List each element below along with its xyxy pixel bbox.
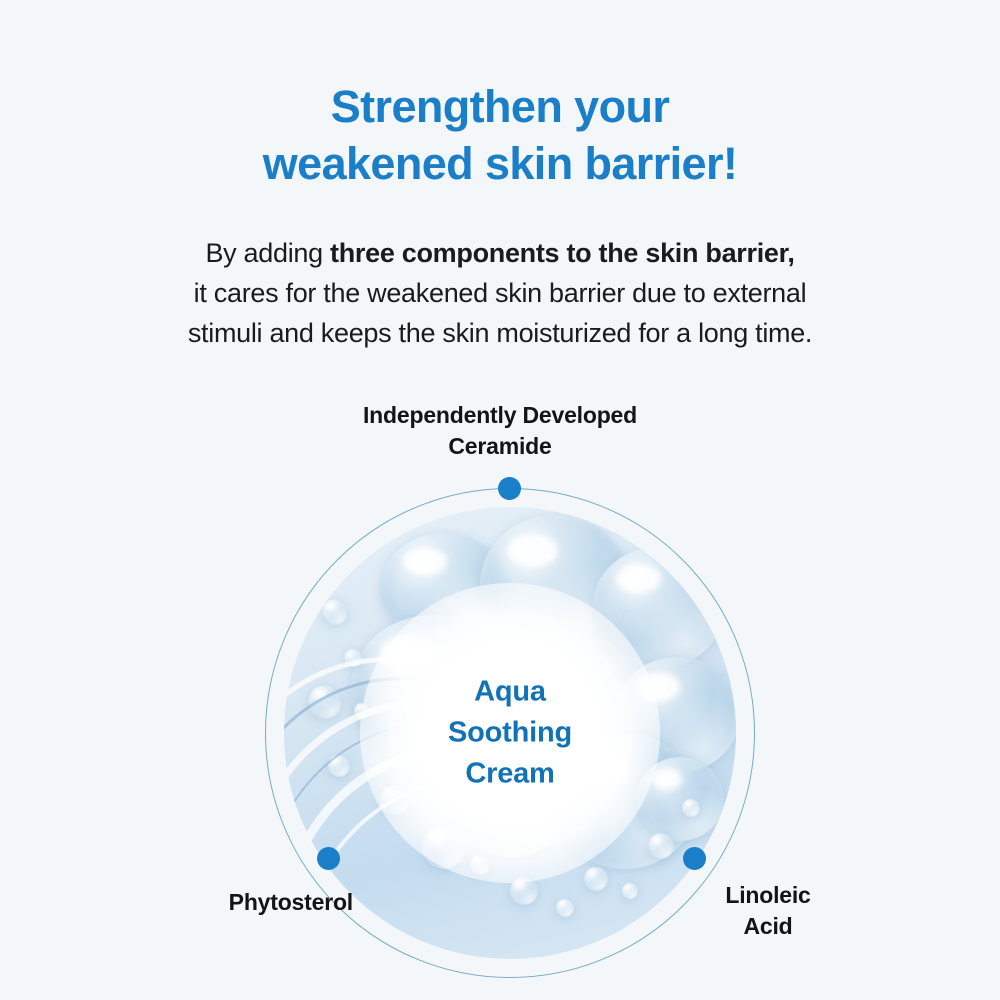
node-dot-linoleic-acid[interactable] [683,847,706,870]
product-name-line-2: Soothing [380,713,640,754]
node-label-ceramide-line-2: Ceramide [0,431,1000,462]
node-label-ceramide-line-1: Independently Developed [0,400,1000,431]
node-dot-ceramide[interactable] [498,477,521,500]
product-name-line-3: Cream [380,754,640,795]
product-name-label: Aqua Soothing Cream [380,672,640,795]
ingredient-diagram: Aqua Soothing Cream Independently Develo… [0,0,1000,1000]
node-label-phytosterol: Phytosterol [143,887,353,918]
droplet-shape [648,833,674,859]
node-label-linoleic-acid: Linoleic Acid [683,880,853,942]
droplet-shape [682,799,700,817]
droplet-shape [322,599,348,625]
node-dot-phytosterol[interactable] [317,847,340,870]
node-label-ceramide: Independently Developed Ceramide [0,400,1000,462]
node-label-linoleic-line-2: Acid [683,911,853,942]
node-label-phytosterol-line-1: Phytosterol [143,887,353,918]
node-label-linoleic-line-1: Linoleic [683,880,853,911]
product-name-line-1: Aqua [380,672,640,713]
